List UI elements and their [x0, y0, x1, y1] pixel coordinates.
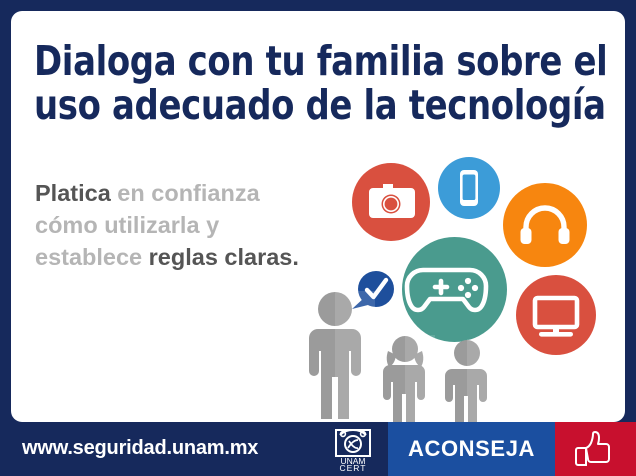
- thumbs-up-block[interactable]: [555, 422, 636, 476]
- headline-line-1: Dialoga con tu familia sobre el: [34, 39, 549, 83]
- unam-cert-logo: UNAM CERT: [330, 426, 376, 472]
- page-title: Dialoga con tu familia sobre el uso adec…: [34, 39, 549, 127]
- poster-card: Dialoga con tu familia sobre el uso adec…: [11, 11, 625, 422]
- poster-root: Dialoga con tu familia sobre el uso adec…: [0, 0, 636, 476]
- aconseja-label: ACONSEJA: [388, 422, 555, 476]
- headphones-icon: [503, 183, 587, 267]
- thumbs-up-icon: [573, 430, 613, 468]
- family-silhouettes: [295, 291, 500, 422]
- aconseja-block[interactable]: ACONSEJA: [388, 422, 555, 476]
- svg-text:CERT: CERT: [340, 463, 367, 472]
- body-copy: Platica en confianza cómo utilizarla y e…: [35, 177, 325, 273]
- camera-icon: [352, 163, 430, 241]
- smartphone-icon: [438, 157, 500, 219]
- monitor-icon: [516, 275, 596, 355]
- headline-line-2: uso adecuado de la tecnología: [34, 83, 549, 127]
- body-copy-emphasis-end: reglas claras.: [149, 244, 299, 270]
- body-copy-emphasis-start: Platica: [35, 180, 111, 206]
- website-url[interactable]: www.seguridad.unam.mx: [22, 437, 258, 460]
